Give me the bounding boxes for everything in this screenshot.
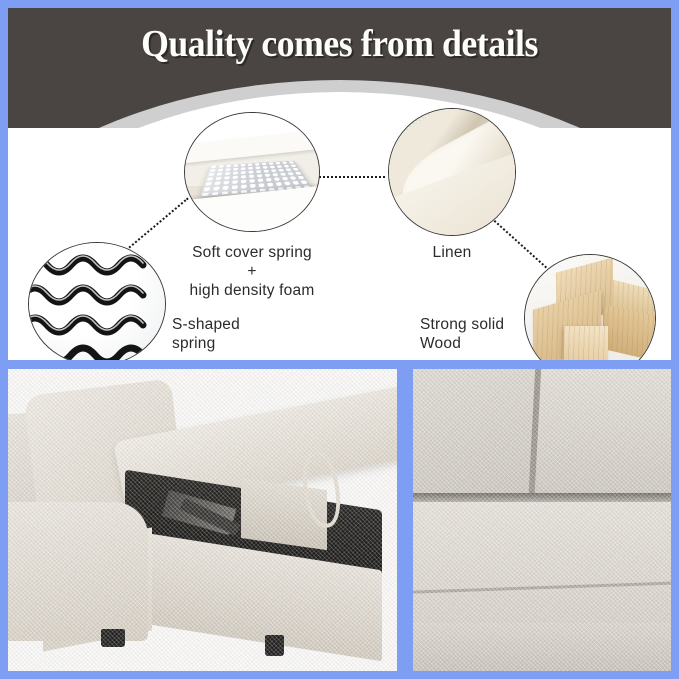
- features-panel: Quality comes from details: [8, 8, 671, 360]
- feature-label-s-shaped-spring: S-shaped spring: [172, 316, 292, 354]
- page-title: Quality comes from details: [28, 22, 651, 66]
- feature-label-solid-wood: Strong solid Wood: [420, 316, 532, 354]
- feature-label-soft-cover-spring: Soft cover spring + high density foam: [164, 244, 340, 301]
- connector-spring-to-linen: [319, 176, 385, 178]
- sofa-leg: [265, 635, 284, 656]
- photo-storage-chaise: [8, 369, 397, 671]
- arc-white-decoration: [8, 92, 671, 128]
- feature-image-solid-wood: [524, 254, 656, 360]
- sofa-caster: [101, 629, 124, 647]
- photo-cushion-closeup: [413, 369, 671, 671]
- feature-label-linen: Linen: [400, 244, 504, 263]
- feature-image-s-shaped-spring: [28, 242, 166, 360]
- product-feature-graphic: Quality comes from details: [0, 0, 679, 679]
- serpentine-spring-icon: [29, 243, 165, 360]
- feature-image-soft-cover-spring: [184, 112, 320, 232]
- feature-image-linen: [388, 108, 516, 236]
